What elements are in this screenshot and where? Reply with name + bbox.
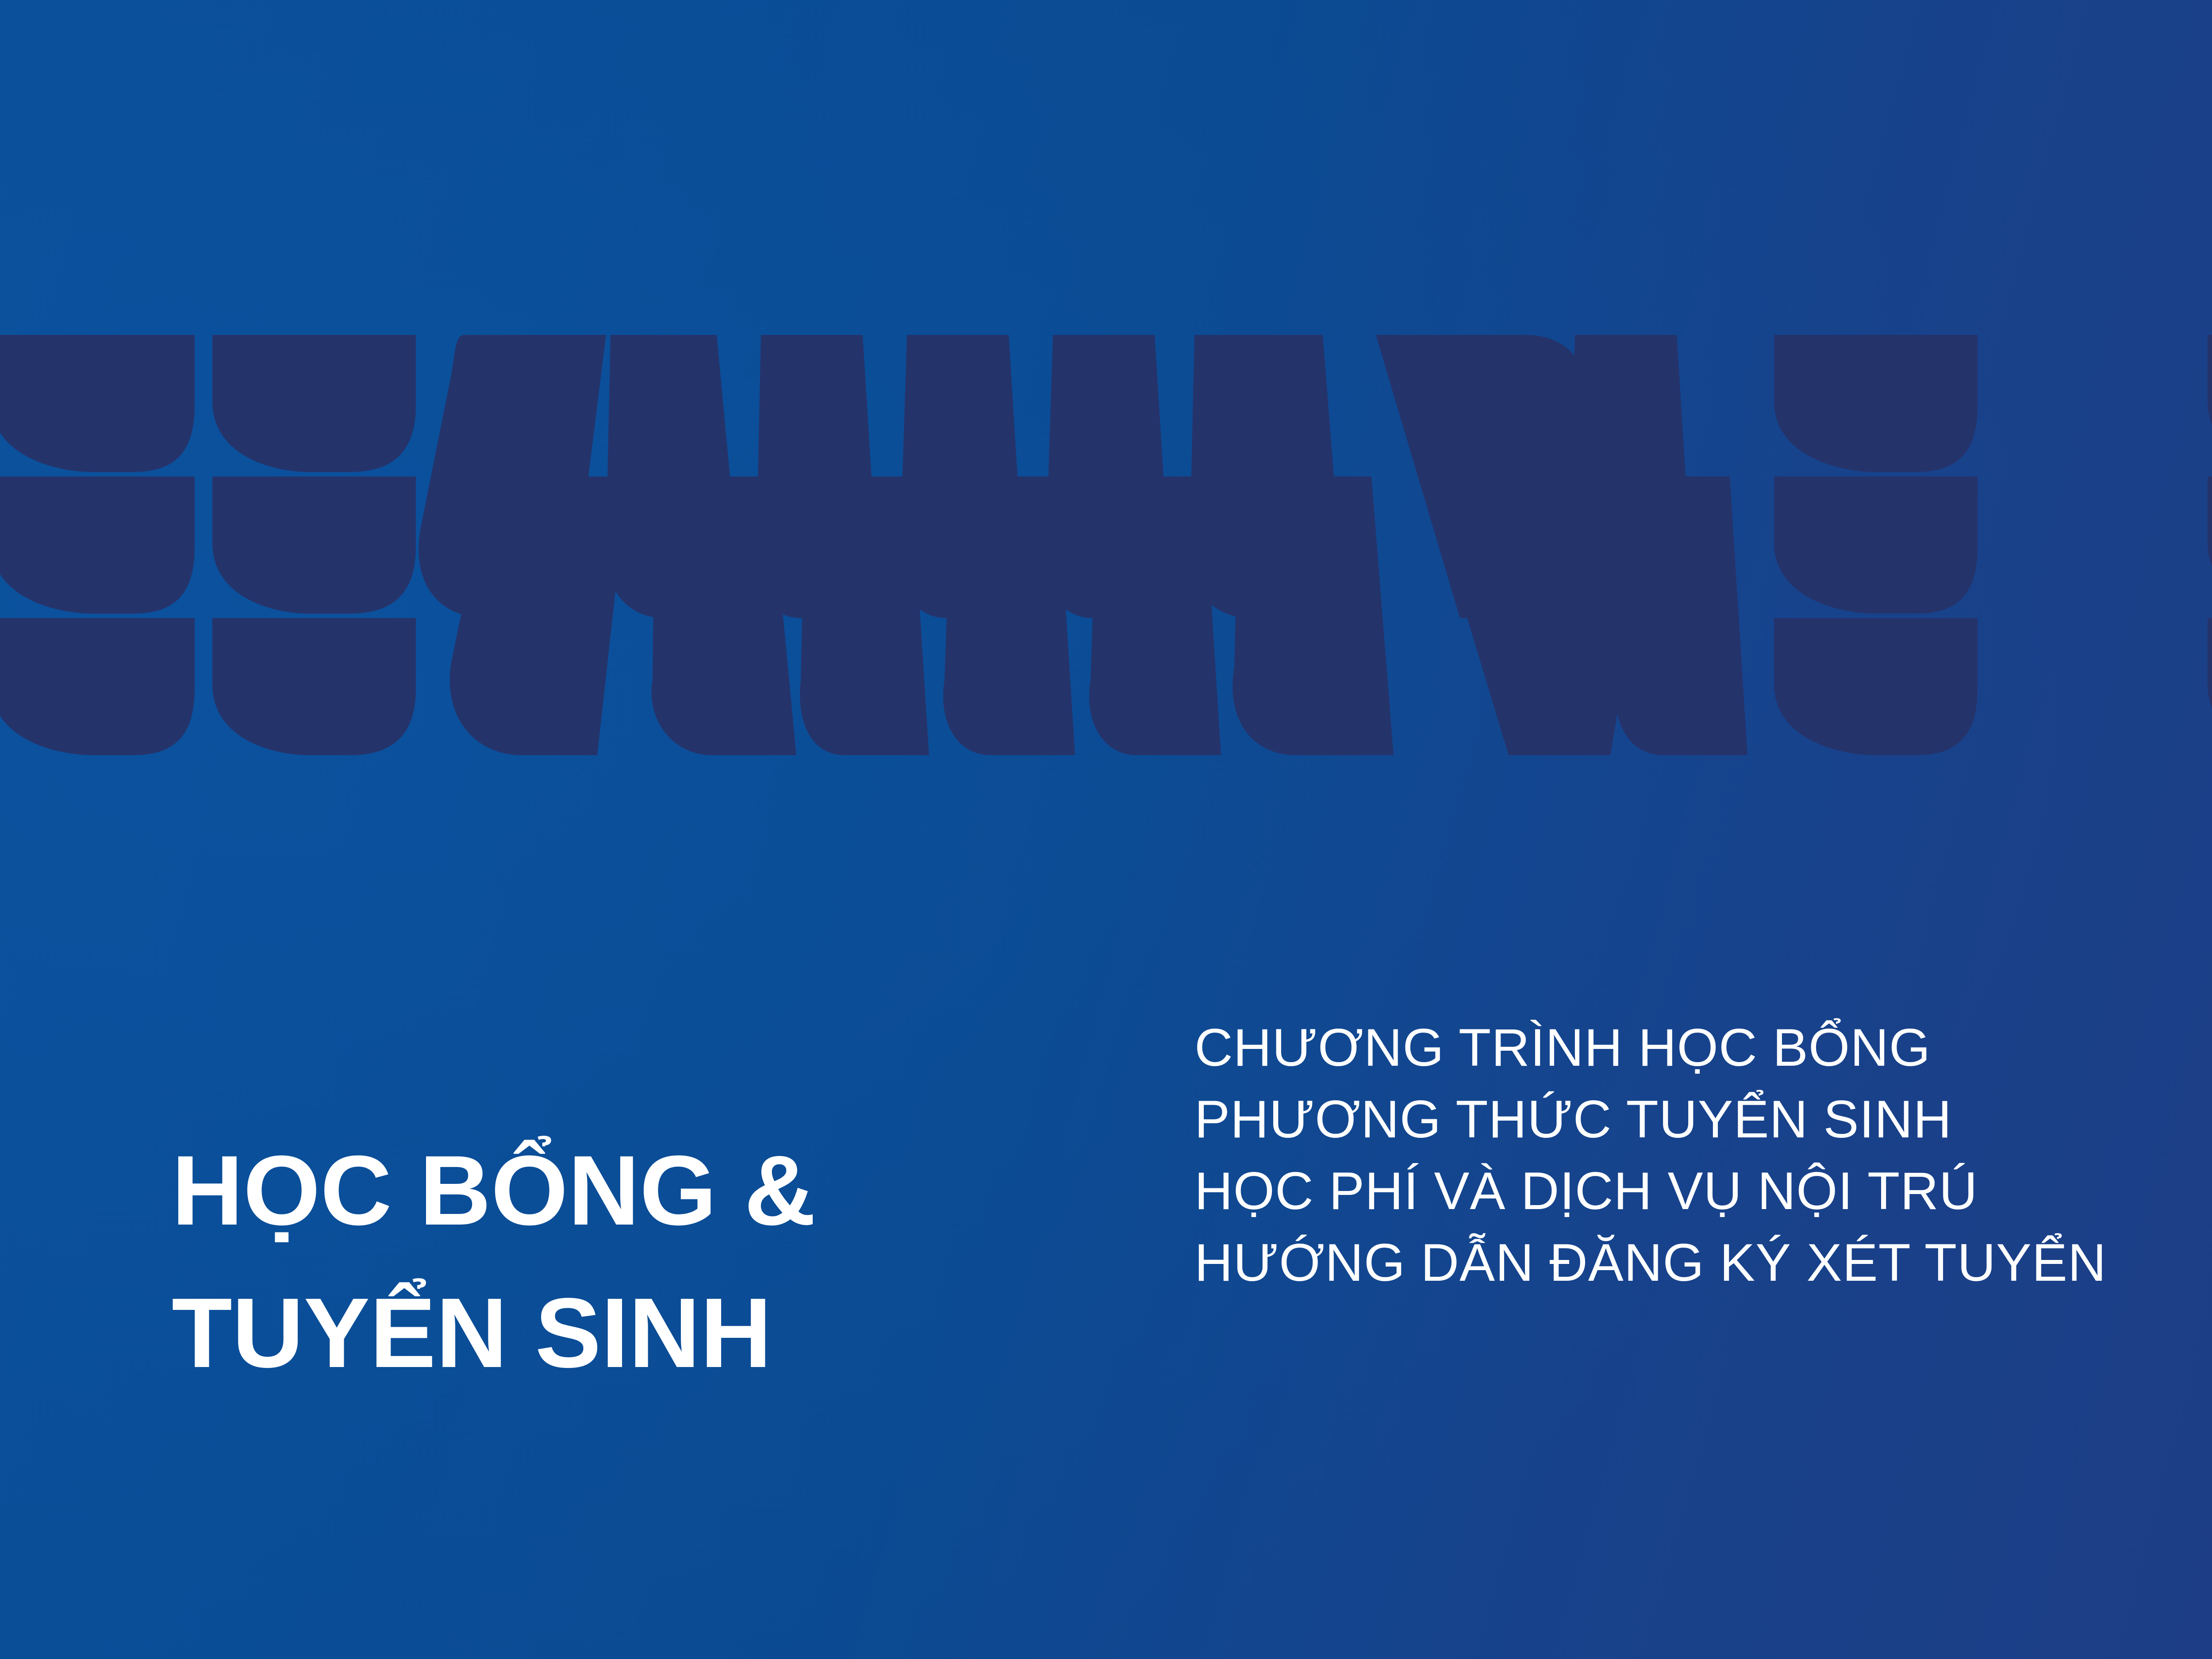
subtitle-list: CHƯƠNG TRÌNH HỌC BỔNG PHƯƠNG THỨC TUYỂN … bbox=[1194, 1018, 2124, 1293]
page-title: HỌC BỔNG & TUYỂN SINH bbox=[172, 1119, 1101, 1404]
leaf-tile-pattern-band bbox=[0, 335, 2212, 755]
subtitle-line-3: HỌC PHÍ VÀ DỊCH VỤ NỘI TRÚ bbox=[1194, 1161, 2124, 1221]
subtitle-line-4: HƯỚNG DẪN ĐĂNG KÝ XÉT TUYỂN bbox=[1194, 1233, 2124, 1293]
background-glow bbox=[0, 0, 2212, 1659]
pattern-shapes bbox=[0, 335, 2212, 755]
subtitle-line-1: CHƯƠNG TRÌNH HỌC BỔNG bbox=[1194, 1018, 2124, 1078]
title-slide: HỌC BỔNG & TUYỂN SINH CHƯƠNG TRÌNH HỌC B… bbox=[0, 0, 2212, 1659]
subtitle-line-2: PHƯƠNG THỨC TUYỂN SINH bbox=[1194, 1089, 2124, 1149]
